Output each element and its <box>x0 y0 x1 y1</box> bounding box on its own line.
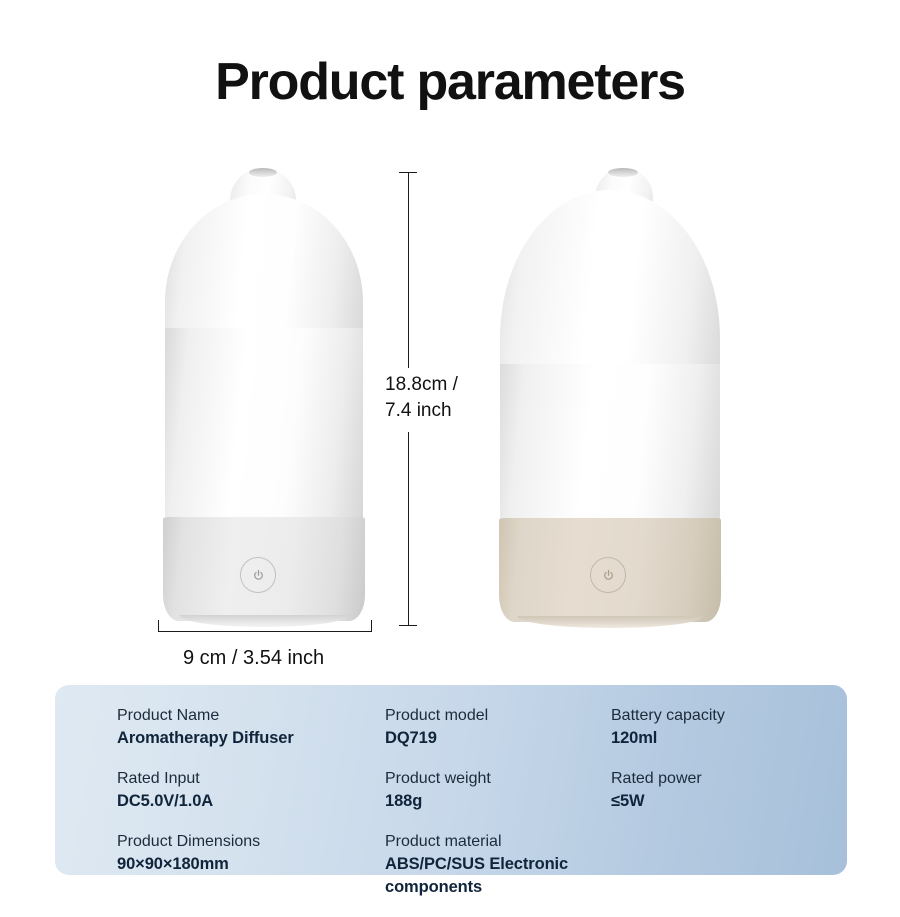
product-image-diffuser-beige <box>495 168 725 630</box>
diffuser-body <box>500 364 720 528</box>
power-icon <box>602 569 615 582</box>
spec-column-1: Product Name Aromatherapy Diffuser Rated… <box>117 705 367 894</box>
diffuser-body <box>165 328 363 528</box>
spec-item: Product Dimensions 90×90×180mm <box>117 831 367 876</box>
power-button[interactable] <box>240 557 276 593</box>
height-bracket-lower-line <box>408 432 409 625</box>
width-bracket-left-tick <box>158 620 159 632</box>
spec-item: Product Name Aromatherapy Diffuser <box>117 705 367 750</box>
spec-item: Rated power ≤5W <box>611 768 841 813</box>
spec-label: Rated Input <box>117 768 367 790</box>
spec-value: Aromatherapy Diffuser <box>117 727 367 750</box>
width-bracket-right-tick <box>371 620 372 632</box>
diffuser-shoulder <box>500 190 720 380</box>
spec-label: Product Name <box>117 705 367 727</box>
spec-value: ABS/PC/SUS Electronic components <box>385 853 635 899</box>
height-dimension-label-line1: 18.8cm / <box>385 372 458 398</box>
spec-panel: Product Name Aromatherapy Diffuser Rated… <box>55 685 847 875</box>
spec-value: DC5.0V/1.0A <box>117 790 367 813</box>
product-image-diffuser-gray <box>155 168 375 630</box>
diffuser-mist-outlet <box>608 168 638 177</box>
spec-column-3: Battery capacity 120ml Rated power ≤5W <box>611 705 841 831</box>
height-dimension-label-line2: 7.4 inch <box>385 398 458 424</box>
spec-item: Rated Input DC5.0V/1.0A <box>117 768 367 813</box>
page-title: Product parameters <box>0 52 900 112</box>
spec-item: Product weight 188g <box>385 768 635 813</box>
spec-label: Product model <box>385 705 635 727</box>
height-dimension-label: 18.8cm / 7.4 inch <box>385 372 458 424</box>
diffuser-foot <box>179 615 349 627</box>
spec-item: Product model DQ719 <box>385 705 635 750</box>
height-bracket-bottom-tick <box>399 625 417 626</box>
spec-column-2: Product model DQ719 Product weight 188g … <box>385 705 635 917</box>
spec-label: Battery capacity <box>611 705 841 727</box>
spec-label: Product weight <box>385 768 635 790</box>
height-bracket-upper-line <box>408 172 409 368</box>
diffuser-foot <box>517 616 703 628</box>
spec-value: 188g <box>385 790 635 813</box>
width-dimension-label: 9 cm / 3.54 inch <box>183 645 324 671</box>
spec-value: 120ml <box>611 727 841 750</box>
spec-value: DQ719 <box>385 727 635 750</box>
spec-value: ≤5W <box>611 790 841 813</box>
spec-value: 90×90×180mm <box>117 853 367 876</box>
width-bracket-line <box>158 631 372 632</box>
spec-item: Product material ABS/PC/SUS Electronic c… <box>385 831 635 899</box>
spec-label: Rated power <box>611 768 841 790</box>
spec-label: Product material <box>385 831 635 853</box>
diffuser-shoulder <box>165 194 363 344</box>
power-icon <box>252 569 265 582</box>
diffuser-mist-outlet <box>249 168 277 177</box>
spec-item: Battery capacity 120ml <box>611 705 841 750</box>
product-parameters-page: Product parameters <box>0 0 900 900</box>
spec-label: Product Dimensions <box>117 831 367 853</box>
power-button[interactable] <box>590 557 626 593</box>
